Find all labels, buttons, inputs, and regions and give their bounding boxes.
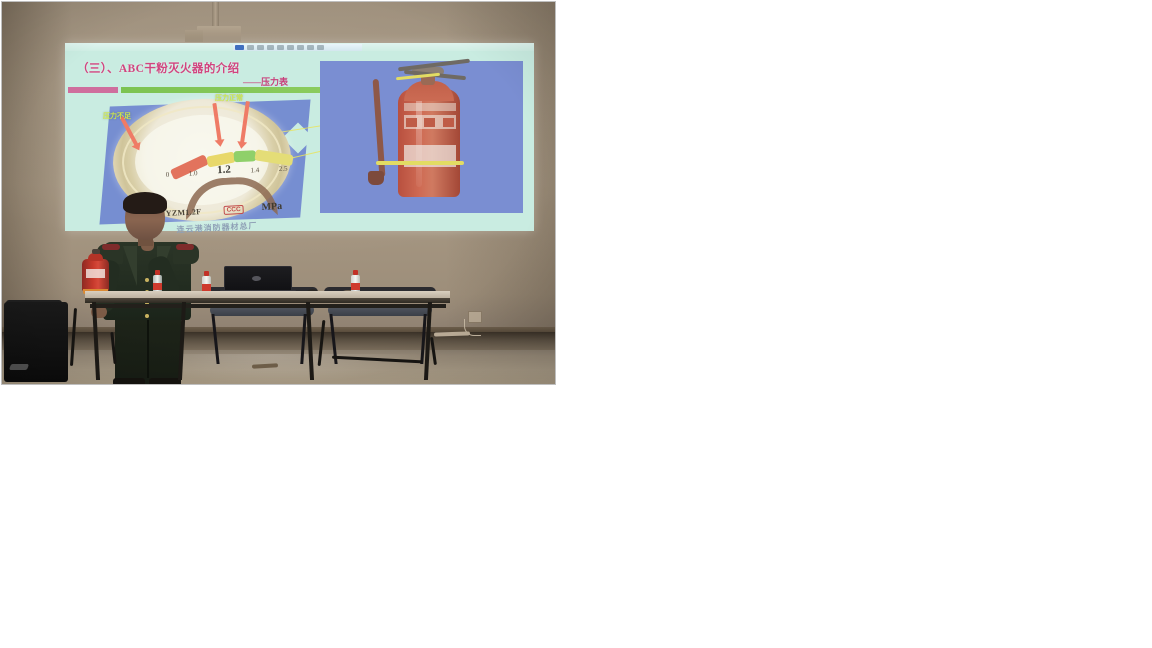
slide-accent-bar-pink bbox=[68, 87, 118, 93]
bottle-cap bbox=[155, 270, 160, 275]
extinguisher-nozzle bbox=[368, 171, 384, 185]
gauge-tick-2: 1.2 bbox=[217, 164, 231, 177]
page-canvas: （三）、ABC干粉灭火器的介绍 ——压力表 0 bbox=[0, 0, 1152, 648]
wall-shadow-left bbox=[2, 2, 72, 334]
gauge-cert-label: CCC bbox=[223, 205, 244, 215]
print-icon bbox=[277, 45, 284, 50]
extinguisher-lower-strap bbox=[376, 161, 464, 165]
gauge-tick-1: 1.0 bbox=[189, 169, 198, 177]
ppt-logo-icon bbox=[235, 45, 244, 50]
speaker-badge bbox=[9, 364, 29, 370]
presenter-shoe-left bbox=[113, 378, 145, 384]
gauge-arc-normal bbox=[234, 150, 257, 162]
presenter-shoe-right bbox=[149, 378, 181, 384]
save-icon bbox=[247, 45, 254, 50]
slide-title: （三）、ABC干粉灭火器的介绍 bbox=[77, 60, 240, 76]
extinguisher-class-icons bbox=[404, 115, 456, 129]
gauge-unit-label: MPa bbox=[261, 201, 282, 213]
gauge-tick-3: 1.4 bbox=[250, 166, 259, 174]
lecture-photograph: （三）、ABC干粉灭火器的介绍 ——压力表 0 bbox=[2, 2, 555, 384]
epaulet-left bbox=[102, 244, 120, 250]
bottle-label bbox=[153, 283, 162, 290]
bottle-cap bbox=[204, 271, 209, 276]
table-rail bbox=[90, 304, 446, 308]
undo-icon bbox=[257, 45, 264, 50]
water-bottle bbox=[351, 270, 360, 293]
gauge-tick-0: 0 bbox=[166, 171, 170, 179]
extinguisher-top-label bbox=[404, 103, 456, 111]
gauge-annotation-top: 压力正常 bbox=[215, 93, 243, 103]
gauge-annotation-left: 压力不足 bbox=[103, 111, 131, 121]
chart-icon bbox=[307, 45, 314, 50]
table-extinguisher-label bbox=[86, 269, 105, 278]
uniform-button bbox=[145, 314, 149, 318]
speaker-box bbox=[4, 302, 68, 382]
table-extinguisher-top bbox=[88, 253, 103, 261]
redo-icon bbox=[267, 45, 274, 50]
table-icon bbox=[297, 45, 304, 50]
lapel-left bbox=[123, 246, 137, 286]
presentation-toolbar bbox=[233, 44, 362, 51]
ceiling-mount-plate bbox=[197, 26, 241, 42]
conference-table-edge bbox=[85, 298, 450, 303]
bottle-cap bbox=[353, 270, 358, 275]
shape-icon bbox=[287, 45, 294, 50]
ceiling-mount-plate-secondary bbox=[185, 30, 203, 42]
presenter-leg-seam bbox=[147, 320, 149, 378]
picture-icon bbox=[317, 45, 324, 50]
bottle-label bbox=[351, 283, 360, 290]
uniform-button bbox=[145, 278, 149, 282]
laptop-logo-icon bbox=[252, 276, 261, 281]
water-bottle bbox=[153, 270, 162, 293]
class-b-icon bbox=[424, 118, 435, 127]
table-extinguisher-valve bbox=[92, 249, 100, 254]
bottle-label bbox=[202, 284, 211, 291]
class-c-icon bbox=[443, 118, 454, 127]
epaulet-right bbox=[176, 244, 194, 250]
slide-extinguisher-photo bbox=[320, 61, 523, 213]
table-fire-extinguisher bbox=[82, 251, 109, 293]
gauge-tick-4: 2.5 bbox=[279, 165, 288, 173]
class-a-icon bbox=[406, 118, 417, 127]
presenter-hair bbox=[123, 192, 167, 214]
